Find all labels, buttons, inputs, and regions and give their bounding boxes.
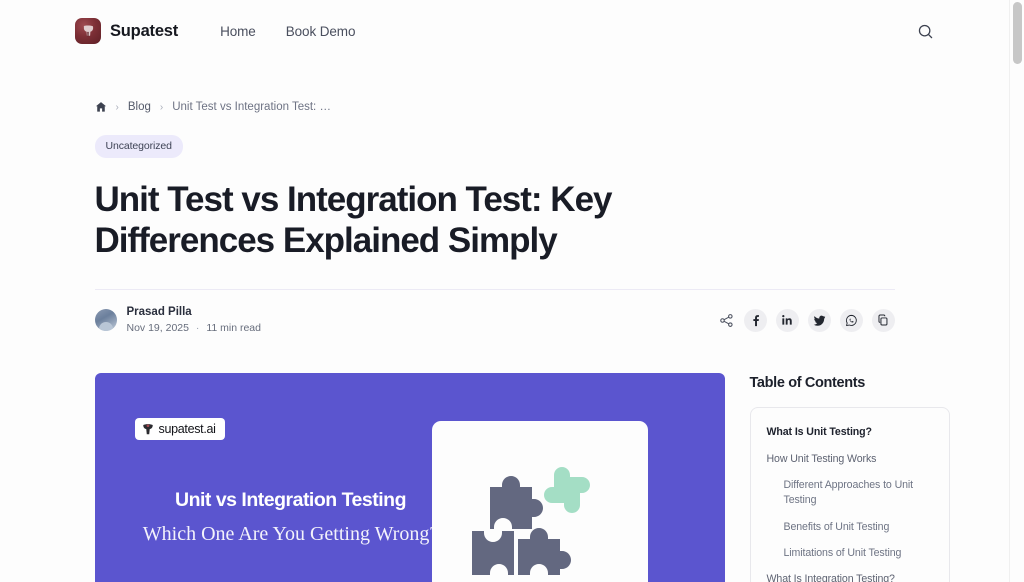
toc-card: What Is Unit Testing? How Unit Testing W… xyxy=(750,407,950,582)
avatar xyxy=(95,309,117,331)
toc-item[interactable]: Different Approaches to Unit Testing xyxy=(767,478,933,509)
facebook-icon[interactable] xyxy=(744,309,767,332)
share-row xyxy=(719,309,895,332)
publish-date: Nov 19, 2025 xyxy=(127,322,189,334)
toc-list: What Is Unit Testing? How Unit Testing W… xyxy=(767,425,933,582)
breadcrumb-item-blog[interactable]: Blog xyxy=(128,101,151,113)
linkedin-icon[interactable] xyxy=(776,309,799,332)
article-meta: Nov 19, 2025 · 11 min read xyxy=(127,321,261,337)
author-block: Prasad Pilla Nov 19, 2025 · 11 min read xyxy=(95,304,261,336)
table-of-contents: Table of Contents What Is Unit Testing? … xyxy=(750,373,950,582)
page-content: › Blog › Unit Test vs Integration Test: … xyxy=(0,62,1009,582)
breadcrumb-separator: › xyxy=(116,102,119,113)
toc-item[interactable]: What Is Integration Testing? xyxy=(767,572,933,582)
nav-item-home[interactable]: Home xyxy=(220,24,256,39)
copy-link-icon[interactable] xyxy=(872,309,895,332)
breadcrumb-separator: › xyxy=(160,102,163,113)
breadcrumb-home-icon[interactable] xyxy=(95,101,107,113)
toc-item[interactable]: Limitations of Unit Testing xyxy=(767,546,933,561)
share-icon[interactable] xyxy=(719,313,734,328)
toc-item[interactable]: How Unit Testing Works xyxy=(767,452,933,467)
breadcrumb: › Blog › Unit Test vs Integration Test: … xyxy=(95,101,915,113)
supatest-elephant-logo-icon xyxy=(75,18,101,44)
nav-item-book-demo[interactable]: Book Demo xyxy=(286,24,356,39)
hero-banner-image: supatest.ai Unit vs Integration Testing … xyxy=(95,373,725,582)
article-body-row: supatest.ai Unit vs Integration Testing … xyxy=(95,373,895,582)
toc-item[interactable]: Benefits of Unit Testing xyxy=(767,520,933,535)
supatest-elephant-logo-icon xyxy=(141,422,155,436)
blog-article-page: Supatest Home Book Demo › Blog xyxy=(0,0,1024,582)
page-scrollbar[interactable] xyxy=(1009,0,1024,582)
hero-logo: supatest.ai xyxy=(135,418,225,440)
hero-illustration-card xyxy=(432,421,648,582)
divider xyxy=(95,289,895,290)
scrollbar-thumb[interactable] xyxy=(1013,2,1022,64)
category-badge[interactable]: Uncategorized xyxy=(95,135,183,158)
whatsapp-icon[interactable] xyxy=(840,309,863,332)
search-icon[interactable] xyxy=(913,19,937,43)
byline-row: Prasad Pilla Nov 19, 2025 · 11 min read xyxy=(95,304,895,336)
meta-separator: · xyxy=(192,322,204,334)
toc-item[interactable]: What Is Unit Testing? xyxy=(767,425,933,440)
primary-nav: Home Book Demo xyxy=(220,24,355,39)
brand-logo-link[interactable]: Supatest xyxy=(75,18,178,44)
author-name: Prasad Pilla xyxy=(127,304,261,321)
breadcrumb-item-current: Unit Test vs Integration Test: … xyxy=(172,101,331,113)
read-time: 11 min read xyxy=(206,322,261,334)
toc-title: Table of Contents xyxy=(750,375,950,391)
twitter-icon[interactable] xyxy=(808,309,831,332)
site-header: Supatest Home Book Demo xyxy=(0,0,1009,62)
hero-logo-text: supatest.ai xyxy=(159,422,216,436)
page-title: Unit Test vs Integration Test: Key Diffe… xyxy=(95,180,655,262)
brand-name: Supatest xyxy=(110,22,178,41)
hero-heading: Unit vs Integration Testing xyxy=(136,489,446,512)
hero-subheading: Which One Are You Getting Wrong? xyxy=(136,520,446,548)
